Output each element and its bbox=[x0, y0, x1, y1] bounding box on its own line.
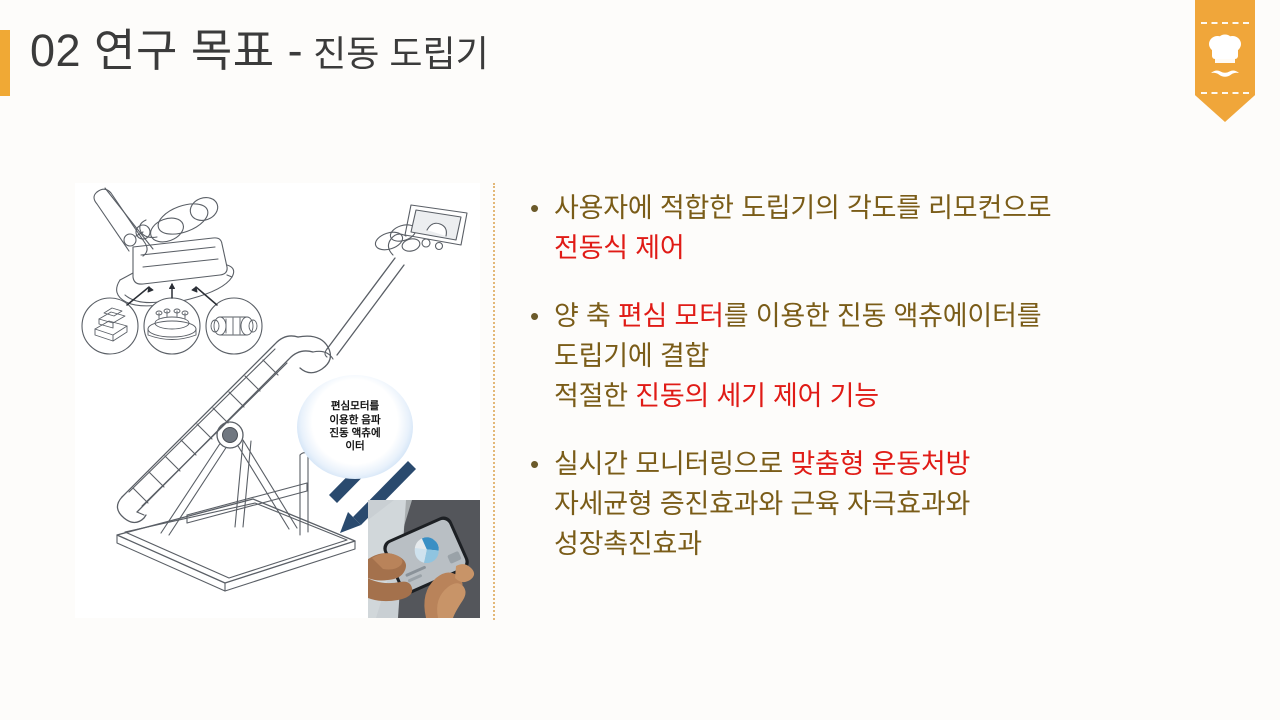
bullet-list: • 사용자에 적합한 도립기의 각도를 리모컨으로 전동식 제어 • 양 축 편… bbox=[520, 188, 1260, 592]
bullet-line: 성장촉진효과 bbox=[554, 524, 1260, 564]
bullet-span: 사용자에 적합한 도립기의 각도를 리모컨으로 bbox=[554, 193, 1051, 223]
bullet-span-highlight: 편심 모터 bbox=[618, 301, 724, 331]
bullet-text: 실시간 모니터링으로 맞춤형 운동처방 자세균형 증진효과와 근육 자극효과와 … bbox=[554, 444, 1260, 564]
page-title-sub: 진동 도립기 bbox=[313, 36, 489, 72]
content-area: 편심모터를 이용한 음파 진동 액츄에 이터 실시간 모니터링 및 강도 설정 … bbox=[0, 180, 1280, 630]
bullet-marker: • bbox=[520, 444, 554, 484]
list-item: • 사용자에 적합한 도립기의 각도를 리모컨으로 전동식 제어 bbox=[520, 188, 1260, 268]
bullet-line: 양 축 편심 모터를 이용한 진동 액츄에이터를 bbox=[554, 296, 1260, 336]
bullet-span-highlight: 맞춤형 운동처방 bbox=[790, 449, 970, 479]
page-title-main: 02 연구 목표 - bbox=[30, 28, 303, 73]
bullet-text: 사용자에 적합한 도립기의 각도를 리모컨으로 전동식 제어 bbox=[554, 188, 1260, 268]
list-item: • 실시간 모니터링으로 맞춤형 운동처방 자세균형 증진효과와 근육 자극효과… bbox=[520, 444, 1260, 564]
chef-hat-icon bbox=[1204, 33, 1246, 83]
ribbon-dash-bottom bbox=[1201, 92, 1249, 94]
bullet-span-highlight: 전동식 제어 bbox=[554, 233, 685, 263]
bullet-line: 실시간 모니터링으로 맞춤형 운동처방 bbox=[554, 444, 1260, 484]
bullet-span: 성장촉진효과 bbox=[554, 529, 702, 559]
callout-line: 이용한 음파 bbox=[329, 414, 380, 427]
ribbon-dash-top bbox=[1201, 22, 1249, 24]
bullet-span: 실시간 모니터링으로 bbox=[554, 449, 790, 479]
bullet-line: 도립기에 결합 bbox=[554, 336, 1260, 376]
bullet-span: 를 이용한 진동 액츄에이터를 bbox=[724, 301, 1042, 331]
list-item: • 양 축 편심 모터를 이용한 진동 액츄에이터를 도립기에 결합 적절한 진… bbox=[520, 296, 1260, 416]
bullet-span-highlight: 진동의 세기 제어 기능 bbox=[635, 381, 879, 411]
corner-ribbon bbox=[1195, 0, 1255, 122]
smartphone-photo bbox=[368, 500, 480, 618]
slide-header: 02 연구 목표 - 진동 도립기 bbox=[0, 28, 1280, 98]
title-accent-bar bbox=[0, 30, 10, 96]
bullet-line: 자세균형 증진효과와 근육 자극효과와 bbox=[554, 484, 1260, 524]
callout-line: 진동 액츄에 bbox=[329, 427, 380, 440]
bullet-span: 양 축 bbox=[554, 301, 618, 331]
callout-line: 이터 bbox=[345, 440, 364, 453]
column-divider bbox=[493, 183, 495, 620]
callout-line: 편심모터를 bbox=[331, 400, 379, 413]
bullet-span: 자세균형 증진효과와 근육 자극효과와 bbox=[554, 489, 970, 519]
bullet-marker: • bbox=[520, 296, 554, 336]
callout-eccentric-motor-actuator: 편심모터를 이용한 음파 진동 액츄에 이터 bbox=[297, 375, 413, 479]
bullet-text: 양 축 편심 모터를 이용한 진동 액츄에이터를 도립기에 결합 적절한 진동의… bbox=[554, 296, 1260, 416]
bullet-span: 도립기에 결합 bbox=[554, 341, 709, 371]
page-title: 02 연구 목표 - 진동 도립기 bbox=[30, 28, 489, 98]
bullet-span: 적절한 bbox=[554, 381, 635, 411]
bullet-line: 전동식 제어 bbox=[554, 228, 1260, 268]
bullet-line: 적절한 진동의 세기 제어 기능 bbox=[554, 376, 1260, 416]
bullet-marker: • bbox=[520, 188, 554, 228]
inversion-table-figure: 편심모터를 이용한 음파 진동 액츄에 이터 실시간 모니터링 및 강도 설정 … bbox=[75, 183, 480, 618]
bullet-line: 사용자에 적합한 도립기의 각도를 리모컨으로 bbox=[554, 188, 1260, 228]
